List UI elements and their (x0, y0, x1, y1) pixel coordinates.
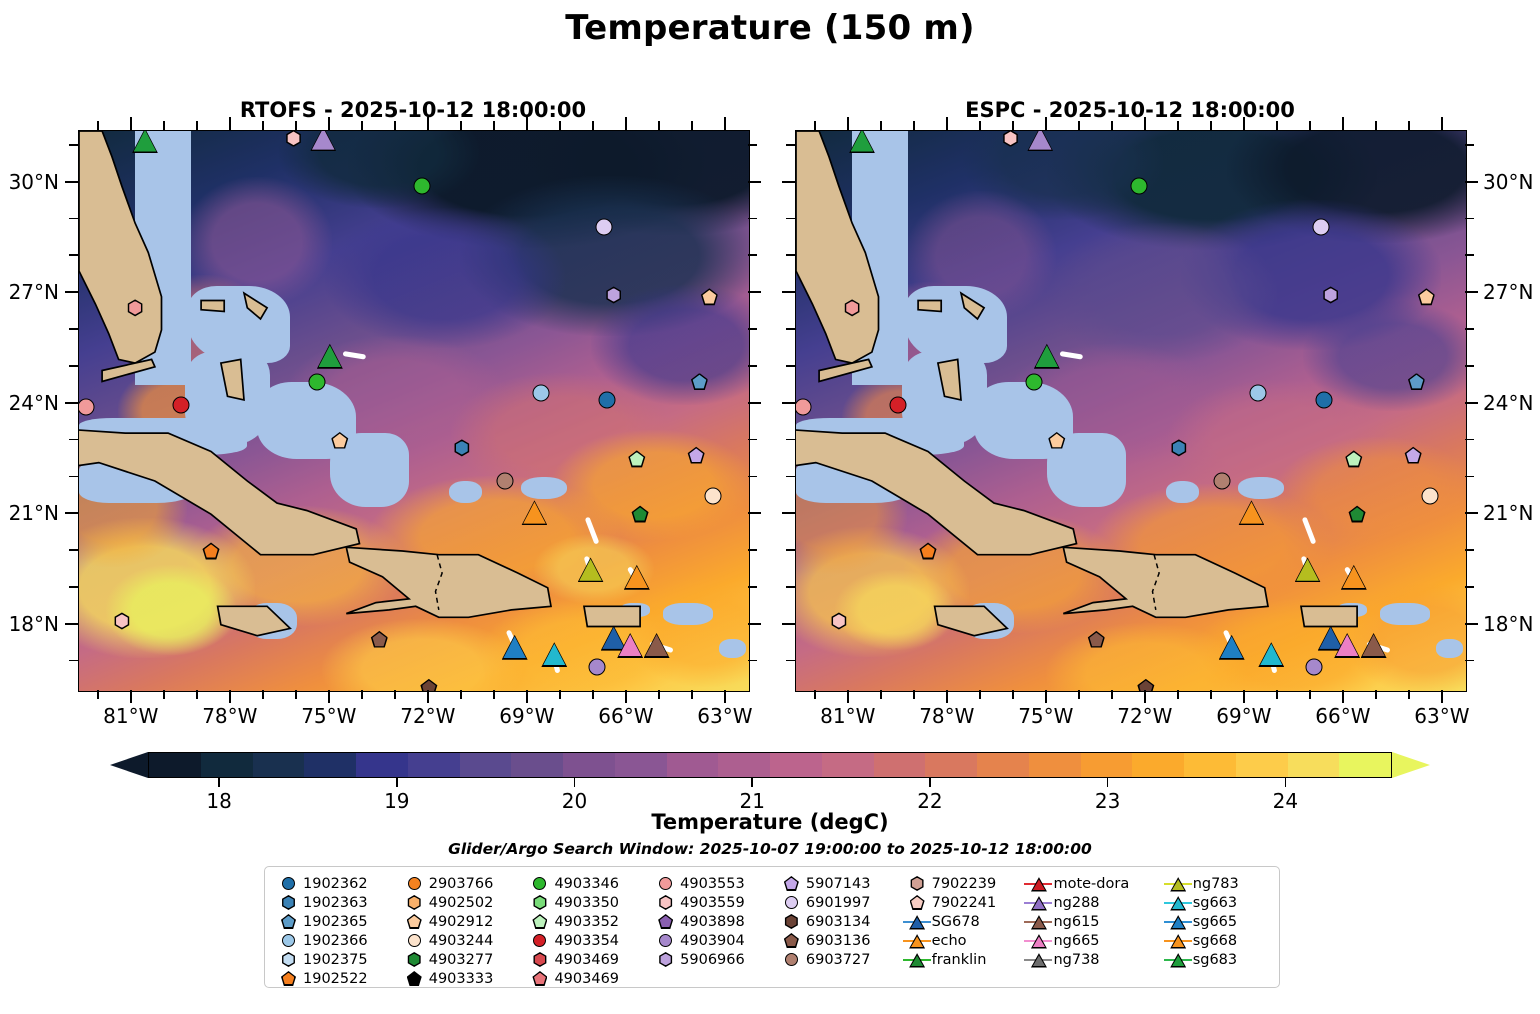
lat-minor-tick (786, 328, 795, 330)
lon-tick-label-1-0: 81°W (803, 704, 893, 728)
lon-minor-tick-top (1375, 121, 1377, 130)
legend-item[interactable]: mote-dora (1023, 874, 1156, 893)
lon-tick-top (427, 117, 429, 130)
platform-marker-5906966[interactable] (605, 286, 622, 303)
lon-minor-tick (1177, 690, 1179, 699)
colorbar[interactable]: 18192021222324 (110, 752, 1430, 778)
lon-tick (130, 690, 132, 703)
platform-marker-sg683b[interactable] (317, 343, 343, 369)
page-title: Temperature (150 m) (0, 8, 1540, 48)
colorbar-tick (751, 778, 753, 787)
lon-tick-top (625, 117, 627, 130)
land-abaco (961, 293, 984, 319)
legend-marker-circle-icon (650, 931, 680, 950)
lat-minor-tick (69, 365, 78, 367)
colorbar-segment (770, 753, 822, 777)
legend-label: 4903244 (429, 933, 494, 949)
legend-item[interactable]: 4903898 (650, 912, 770, 931)
legend-marker-circle-icon (776, 893, 806, 912)
legend-item[interactable]: 2903766 (399, 874, 519, 893)
platform-marker-ng615[interactable] (644, 632, 670, 658)
lon-minor-tick (163, 690, 165, 699)
lon-minor-tick (361, 690, 363, 699)
platform-marker-4903352[interactable] (628, 450, 645, 467)
legend-label: 4903553 (680, 876, 745, 892)
lat-minor-tick-right (1465, 660, 1474, 662)
lat-tick-right (748, 402, 761, 404)
legend-marker-pentagon-icon (776, 874, 806, 893)
platform-marker-ng288[interactable] (310, 130, 336, 151)
platform-marker-4903559[interactable] (1002, 130, 1019, 147)
legend-item[interactable]: 6903136 (776, 931, 896, 950)
lon-minor-tick-top (979, 121, 981, 130)
land-jamaica (218, 606, 291, 635)
platform-marker-1902365[interactable] (1408, 373, 1425, 390)
platform-marker-sg663[interactable] (1258, 641, 1284, 667)
lon-tick-top (1243, 117, 1245, 130)
lat-minor-tick (786, 254, 795, 256)
lat-tick-right (1465, 512, 1478, 514)
legend-marker-triangle-icon (1163, 931, 1193, 950)
legend-item[interactable]: 4903346 (524, 874, 644, 893)
platform-marker-sg683b[interactable] (1034, 343, 1060, 369)
platform-marker-ng288[interactable] (1027, 130, 1053, 151)
platform-marker-6901997[interactable] (595, 218, 612, 235)
colorbar-tick (1285, 778, 1287, 787)
panel-title-rtofs: RTOFS - 2025-10-12 18:00:00 (78, 98, 748, 122)
legend-marker-hexagon-icon (776, 912, 806, 931)
legend-label: 5906966 (680, 952, 745, 968)
legend-item[interactable]: ng615 (1023, 912, 1156, 931)
legend-marker-pentagon-icon (650, 912, 680, 931)
platform-marker-4902912b[interactable] (1048, 432, 1065, 449)
legend-label: sg665 (1193, 914, 1237, 930)
legend-item[interactable]: echo (902, 931, 1018, 950)
lat-tick-label-left-0: 30°N (0, 170, 59, 194)
legend-marker-triangle-icon (1163, 950, 1193, 969)
land-cuba (79, 429, 359, 554)
platform-marker-ng665[interactable] (1334, 632, 1360, 658)
platform-marker-ng665[interactable] (617, 632, 643, 658)
platform-marker-4903904[interactable] (589, 659, 606, 676)
legend-marker-pentagon-icon (524, 912, 554, 931)
platform-marker-sg683[interactable] (849, 130, 875, 153)
lon-tick-top (1342, 117, 1344, 130)
land-florida (79, 131, 162, 363)
legend-label: 4903350 (554, 895, 619, 911)
legend-item[interactable]: 4903469 (524, 969, 644, 988)
legend-item[interactable]: 4902502 (399, 893, 519, 912)
lat-tick (65, 623, 78, 625)
lon-minor-tick (592, 690, 594, 699)
legend-item[interactable]: 4903244 (399, 931, 519, 950)
platform-marker-1902522[interactable] (203, 543, 220, 560)
legend-marker-circle-icon (650, 874, 680, 893)
legend-label: 4903469 (554, 952, 619, 968)
lon-minor-tick-top (1276, 121, 1278, 130)
legend-item[interactable]: sg668 (1163, 931, 1265, 950)
legend-marker-hexagon-icon (650, 950, 680, 969)
legend-label: ng665 (1053, 933, 1099, 949)
platform-marker-sg668[interactable] (624, 564, 650, 590)
platform-marker-4903346[interactable] (414, 178, 431, 195)
colorbar-extend-high (1392, 752, 1430, 778)
legend-item[interactable]: 4903469 (524, 950, 644, 969)
lat-tick-right (748, 512, 761, 514)
lon-minor-tick-top (295, 121, 297, 130)
legend-item[interactable]: 1902363 (273, 893, 393, 912)
platform-marker-1902362[interactable] (1316, 391, 1333, 408)
legend-label: sg668 (1193, 933, 1237, 949)
legend[interactable]: 1902362190236319023651902366190237519025… (264, 866, 1280, 988)
legend-item[interactable]: 7902239 (902, 874, 1018, 893)
platform-marker-6903134[interactable] (1137, 679, 1154, 692)
colorbar-extend-low (110, 752, 148, 778)
lat-minor-tick (69, 660, 78, 662)
lat-minor-tick-right (1465, 328, 1474, 330)
lat-minor-tick-right (1465, 476, 1474, 478)
lon-minor-tick (262, 690, 264, 699)
legend-item[interactable]: 4903333 (399, 969, 519, 988)
legend-item[interactable]: 7902241 (902, 893, 1018, 912)
lon-minor-tick (1012, 690, 1014, 699)
platform-marker-5906966[interactable] (1322, 286, 1339, 303)
platform-marker-sg683[interactable] (132, 130, 158, 153)
platform-marker-ng615[interactable] (1361, 632, 1387, 658)
lon-minor-tick-top (1012, 121, 1014, 130)
platform-marker-1902363[interactable] (453, 439, 470, 456)
lat-minor-tick (786, 218, 795, 220)
legend-label: 4903469 (554, 971, 619, 987)
legend-item[interactable]: 4902912 (399, 912, 519, 931)
platform-marker-1902522[interactable] (920, 543, 937, 560)
legend-item[interactable]: 1902375 (273, 950, 393, 969)
lon-minor-tick-top (913, 121, 915, 130)
platform-marker-6903134[interactable] (420, 679, 437, 692)
lat-minor-tick-right (748, 328, 757, 330)
lon-tick-top (1441, 117, 1443, 130)
lat-minor-tick (69, 549, 78, 551)
platform-marker-4903553[interactable] (127, 299, 144, 316)
platform-marker-1902366[interactable] (1250, 384, 1267, 401)
legend-marker-hexagon-icon (650, 893, 680, 912)
legend-label: 4903904 (680, 933, 745, 949)
lon-tick (1243, 690, 1245, 703)
lon-tick-top (1144, 117, 1146, 130)
lon-minor-tick (658, 690, 660, 699)
platform-marker-4903346b[interactable] (308, 373, 325, 390)
legend-label: SG678 (932, 914, 980, 930)
platform-marker-echo[interactable] (521, 499, 547, 525)
platform-marker-ng783[interactable] (1295, 556, 1321, 582)
platform-marker-sg665[interactable] (502, 634, 528, 660)
legend-marker-triangle-icon (1163, 893, 1193, 912)
legend-marker-pentagon-icon (399, 912, 429, 931)
platform-marker-4903346[interactable] (1131, 178, 1148, 195)
legend-item[interactable]: 4903352 (524, 912, 644, 931)
lon-minor-tick (880, 690, 882, 699)
colorbar-segment (874, 753, 926, 777)
lon-tick-label-1-1: 78°W (902, 704, 992, 728)
lon-tick (625, 690, 627, 703)
legend-item[interactable]: 4903559 (650, 893, 770, 912)
legend-marker-pentagon-icon (399, 969, 429, 988)
platform-marker-4903244[interactable] (704, 487, 721, 504)
lon-tick-label-0-5: 66°W (581, 704, 671, 728)
legend-label: 4903346 (554, 876, 619, 892)
lon-minor-tick (97, 690, 99, 699)
platform-marker-echo[interactable] (1238, 499, 1264, 525)
lat-minor-tick-right (748, 365, 757, 367)
lon-tick (229, 690, 231, 703)
legend-circle (533, 877, 546, 890)
platform-marker-6901997[interactable] (1312, 218, 1329, 235)
colorbar-segment (925, 753, 977, 777)
platform-marker-sg665[interactable] (1219, 634, 1245, 660)
lon-tick-label-0-4: 69°W (482, 704, 572, 728)
lat-minor-tick (786, 439, 795, 441)
legend-circle (659, 877, 672, 890)
colorbar-tick (929, 778, 931, 787)
lon-minor-tick-top (361, 121, 363, 130)
colorbar-segment (563, 753, 615, 777)
legend-item[interactable]: 6901997 (776, 893, 896, 912)
platform-marker-4903553b[interactable] (78, 399, 94, 416)
legend-circle (282, 934, 295, 947)
legend-item[interactable]: 4903277 (399, 950, 519, 969)
legend-label: 4902912 (429, 914, 494, 930)
land-grand-bahama (918, 301, 941, 312)
lon-minor-tick (1078, 690, 1080, 699)
land-abaco (244, 293, 267, 319)
lat-minor-tick (786, 660, 795, 662)
lat-minor-tick-right (1465, 218, 1474, 220)
land-florida (796, 131, 879, 363)
platform-marker-4902912[interactable] (1418, 288, 1435, 305)
legend-item[interactable]: 5907143 (776, 874, 896, 893)
legend-item[interactable]: ng665 (1023, 931, 1156, 950)
search-window-caption: Glider/Argo Search Window: 2025-10-07 19… (0, 840, 1540, 858)
legend-item[interactable]: 1902362 (273, 874, 393, 893)
legend-item[interactable]: sg665 (1163, 912, 1265, 931)
platform-marker-4903559b[interactable] (113, 613, 130, 630)
legend-marker-triangle-icon (902, 950, 932, 969)
lat-tick-label-right-0: 30°N (1483, 170, 1540, 194)
legend-item[interactable]: 1902365 (273, 912, 393, 931)
lat-minor-tick (69, 328, 78, 330)
platform-marker-4903346b[interactable] (1025, 373, 1042, 390)
platform-marker-4903244[interactable] (1421, 487, 1438, 504)
lat-minor-tick-right (748, 660, 757, 662)
legend-item[interactable]: 1902366 (273, 931, 393, 950)
lon-minor-tick (691, 690, 693, 699)
colorbar-segment (1132, 753, 1184, 777)
legend-column-2: 4903346490335049033524903354490346949034… (524, 874, 644, 987)
lon-tick-label-0-2: 75°W (284, 704, 374, 728)
colorbar-segment (1081, 753, 1133, 777)
legend-marker-pentagon-icon (273, 969, 303, 988)
platform-marker-1902366[interactable] (533, 384, 550, 401)
lat-minor-tick (69, 476, 78, 478)
lat-tick-label-right-4: 18°N (1483, 612, 1540, 636)
lat-minor-tick (69, 254, 78, 256)
land-puerto-rico (584, 606, 640, 626)
colorbar-segment (667, 753, 719, 777)
platform-marker-ng783[interactable] (578, 556, 604, 582)
platform-marker-6903136[interactable] (1088, 631, 1105, 648)
lat-minor-tick-right (748, 549, 757, 551)
legend-label: mote-dora (1053, 876, 1129, 892)
legend-marker-pentagon-icon (776, 931, 806, 950)
legend-item[interactable]: 4903553 (650, 874, 770, 893)
legend-marker-triangle-icon (1023, 893, 1053, 912)
platform-marker-4903352[interactable] (1345, 450, 1362, 467)
lon-minor-tick-top (493, 121, 495, 130)
platform-marker-1902362[interactable] (599, 391, 616, 408)
colorbar-gradient (148, 752, 1392, 778)
legend-item[interactable]: ng783 (1163, 874, 1265, 893)
map-panel-rtofs[interactable] (78, 130, 750, 692)
lon-minor-tick (913, 690, 915, 699)
lat-minor-tick (786, 365, 795, 367)
colorbar-segment (1236, 753, 1288, 777)
platform-marker-sg663[interactable] (541, 641, 567, 667)
lat-minor-tick (69, 144, 78, 146)
lat-minor-tick-right (1465, 586, 1474, 588)
platform-marker-1902363[interactable] (1170, 439, 1187, 456)
lon-tick-top (229, 117, 231, 130)
legend-item[interactable]: ng738 (1023, 950, 1156, 969)
lon-minor-tick (1408, 690, 1410, 699)
legend-item[interactable]: sg663 (1163, 893, 1265, 912)
legend-column-7: ng783sg663sg665sg668sg683 (1163, 874, 1265, 987)
platform-marker-4902912[interactable] (701, 288, 718, 305)
lon-tick-label-0-3: 72°W (383, 704, 473, 728)
platform-marker-4903559[interactable] (285, 130, 302, 147)
map-panel-espc[interactable] (795, 130, 1467, 692)
colorbar-segment (1288, 753, 1340, 777)
lon-tick (427, 690, 429, 703)
legend-label: ng615 (1053, 914, 1099, 930)
platform-marker-4903277[interactable] (1349, 506, 1366, 523)
platform-marker-sg668[interactable] (1341, 564, 1367, 590)
legend-column-4: 59071436901997690313469031366903727 (776, 874, 896, 987)
lat-tick-label-right-3: 21°N (1483, 501, 1540, 525)
lon-minor-tick (196, 690, 198, 699)
lon-tick-label-1-4: 69°W (1199, 704, 1289, 728)
legend-label: 4903354 (554, 933, 619, 949)
legend-item[interactable]: 4903354 (524, 931, 644, 950)
legend-item[interactable]: 1902522 (273, 969, 393, 988)
colorbar-segment (718, 753, 770, 777)
legend-item[interactable]: 6903134 (776, 912, 896, 931)
lon-tick (946, 690, 948, 703)
lat-tick (782, 623, 795, 625)
lon-tick-top (1045, 117, 1047, 130)
lon-tick-top (946, 117, 948, 130)
platform-marker-4902912b[interactable] (331, 432, 348, 449)
platform-marker-6903136[interactable] (371, 631, 388, 648)
colorbar-segment (304, 753, 356, 777)
legend-marker-hexagon-icon (273, 950, 303, 969)
lat-tick-right (748, 181, 761, 183)
legend-marker-hexagon-icon (524, 950, 554, 969)
colorbar-segment (511, 753, 563, 777)
lat-tick-right (1465, 623, 1478, 625)
platform-marker-1902365[interactable] (691, 373, 708, 390)
land-florida-keys (819, 359, 872, 381)
legend-marker-triangle-icon (1163, 912, 1193, 931)
legend-label: 4903898 (680, 914, 745, 930)
legend-item[interactable]: 6903727 (776, 950, 896, 969)
legend-item[interactable]: ng288 (1023, 893, 1156, 912)
platform-marker-4903354[interactable] (890, 397, 907, 414)
legend-marker-hexagon-icon (273, 893, 303, 912)
legend-marker-triangle-icon (1023, 931, 1053, 950)
lat-minor-tick-right (1465, 549, 1474, 551)
lon-minor-tick-top (1309, 121, 1311, 130)
lon-minor-tick (493, 690, 495, 699)
lat-tick-label-left-1: 27°N (0, 280, 59, 304)
lon-tick-label-0-6: 63°W (680, 704, 770, 728)
lon-tick-label-1-3: 72°W (1100, 704, 1190, 728)
legend-label: ng738 (1053, 952, 1099, 968)
lon-tick-top (130, 117, 132, 130)
land-andros (938, 359, 961, 400)
legend-marker-triangle-icon (1023, 874, 1053, 893)
legend-label: 1902362 (303, 876, 368, 892)
lon-minor-tick (1210, 690, 1212, 699)
platform-marker-4903559b[interactable] (830, 613, 847, 630)
legend-item[interactable]: franklin (902, 950, 1018, 969)
colorbar-segment (615, 753, 667, 777)
legend-item[interactable]: SG678 (902, 912, 1018, 931)
colorbar-tick (1107, 778, 1109, 787)
platform-marker-4903553[interactable] (844, 299, 861, 316)
platform-marker-6903727[interactable] (1213, 473, 1230, 490)
lon-tick (328, 690, 330, 703)
legend-label: ng288 (1053, 895, 1099, 911)
platform-marker-6903727[interactable] (496, 473, 513, 490)
legend-item[interactable]: sg683 (1163, 950, 1265, 969)
lon-minor-tick-top (814, 121, 816, 130)
legend-label: 7902239 (932, 876, 997, 892)
legend-marker-triangle-icon (902, 931, 932, 950)
platform-marker-5907143[interactable] (688, 447, 705, 464)
legend-item[interactable]: 5906966 (650, 950, 770, 969)
legend-label: 6903134 (806, 914, 871, 930)
lon-minor-tick (394, 690, 396, 699)
land-grand-bahama (201, 301, 224, 312)
legend-item[interactable]: 4903350 (524, 893, 644, 912)
figure-root: Temperature (150 m) RTOFS - 2025-10-12 1… (0, 0, 1540, 1014)
legend-label: 4903352 (554, 914, 619, 930)
platform-marker-4903277[interactable] (632, 506, 649, 523)
legend-label: 2903766 (429, 876, 494, 892)
legend-label: 1902365 (303, 914, 368, 930)
platform-marker-4903553b[interactable] (795, 399, 811, 416)
lon-minor-tick-top (163, 121, 165, 130)
colorbar-tick (574, 778, 576, 787)
lon-tick (1144, 690, 1146, 703)
platform-marker-4903904[interactable] (1306, 659, 1323, 676)
legend-item[interactable]: 4903904 (650, 931, 770, 950)
platform-marker-4903354[interactable] (173, 397, 190, 414)
lat-tick (782, 512, 795, 514)
platform-marker-5907143[interactable] (1405, 447, 1422, 464)
lat-minor-tick (69, 218, 78, 220)
lon-tick-label-0-1: 78°W (185, 704, 275, 728)
